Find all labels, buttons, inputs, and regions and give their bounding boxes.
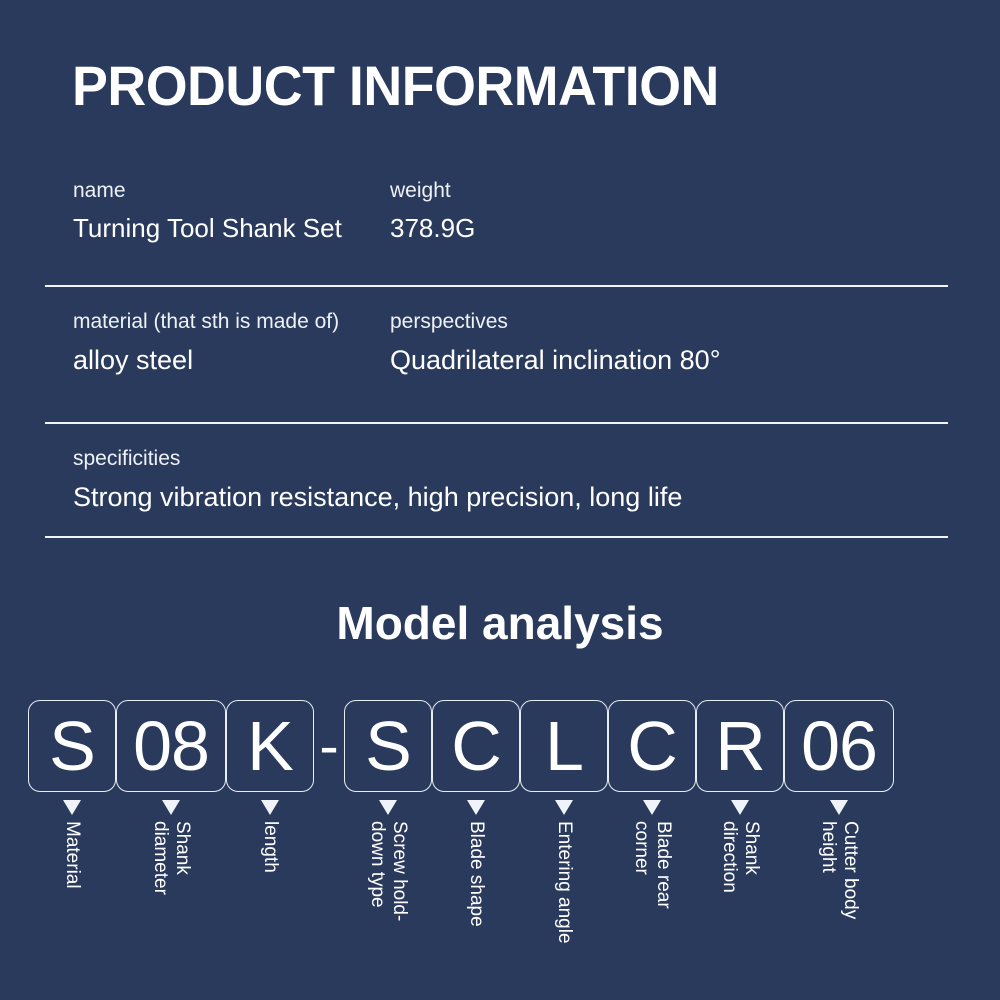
- triangle-down-icon: [555, 800, 573, 815]
- triangle-down-icon: [467, 800, 485, 815]
- triangle-down-icon: [643, 800, 661, 815]
- spec-row-specificities: specificities Strong vibration resistanc…: [45, 424, 948, 536]
- model-callout: Screw hold- down type: [344, 796, 432, 996]
- spec-table: name Turning Tool Shank Set weight 378.9…: [45, 170, 948, 538]
- spec-row-name-weight: name Turning Tool Shank Set weight 378.9…: [45, 170, 948, 285]
- model-callout-label: Blade shape: [465, 821, 487, 927]
- spec-value-name: Turning Tool Shank Set: [73, 212, 390, 246]
- triangle-down-icon: [379, 800, 397, 815]
- model-callout-label: Entering angle: [553, 821, 575, 944]
- triangle-down-icon: [63, 800, 81, 815]
- model-code-box: C: [432, 700, 520, 792]
- spec-key-name: name: [73, 178, 390, 204]
- model-code-row: S08K-SCLCR06: [28, 700, 978, 792]
- model-callout-row: MaterialShank diameterlengthScrew hold- …: [28, 796, 978, 996]
- model-code-box: R: [696, 700, 784, 792]
- model-callout-label: length: [259, 821, 281, 873]
- section-title-model-analysis: Model analysis: [0, 600, 1000, 646]
- model-code-box: L: [520, 700, 608, 792]
- model-callout: Material: [28, 796, 116, 996]
- spec-key-specificities: specificities: [73, 446, 682, 472]
- model-code-box: S: [28, 700, 116, 792]
- model-callout: Shank diameter: [116, 796, 226, 996]
- spec-value-perspectives: Quadrilateral inclination 80°: [390, 343, 910, 378]
- model-callout: Blade rear corner: [608, 796, 696, 996]
- model-code-box: S: [344, 700, 432, 792]
- spec-row-material-perspectives: material (that sth is made of) alloy ste…: [45, 287, 948, 422]
- spec-cell-name: name Turning Tool Shank Set: [45, 178, 390, 246]
- model-callout: Blade shape: [432, 796, 520, 996]
- spec-divider-3: [45, 536, 948, 538]
- model-code-box: K: [226, 700, 314, 792]
- triangle-down-icon: [731, 800, 749, 815]
- model-callout-label: Cutter body height: [817, 821, 861, 919]
- spec-cell-material: material (that sth is made of) alloy ste…: [45, 309, 390, 378]
- model-callout: length: [226, 796, 314, 996]
- spec-key-material: material (that sth is made of): [73, 309, 390, 335]
- model-callout: [314, 796, 344, 996]
- model-callout-label: Shank diameter: [149, 821, 193, 895]
- spec-value-material: alloy steel: [73, 343, 390, 378]
- spec-key-weight: weight: [390, 178, 790, 204]
- model-callout: Shank direction: [696, 796, 784, 996]
- model-code-box: 08: [116, 700, 226, 792]
- spec-cell-perspectives: perspectives Quadrilateral inclination 8…: [390, 309, 910, 378]
- triangle-down-icon: [830, 800, 848, 815]
- model-callout: Cutter body height: [784, 796, 894, 996]
- model-code-box: 06: [784, 700, 894, 792]
- model-callout-label: Blade rear corner: [630, 821, 674, 909]
- triangle-down-icon: [162, 800, 180, 815]
- spec-key-perspectives: perspectives: [390, 309, 910, 335]
- spec-value-specificities: Strong vibration resistance, high precis…: [73, 480, 682, 515]
- model-code-separator: -: [314, 700, 344, 792]
- spec-value-weight: 378.9G: [390, 212, 790, 246]
- triangle-down-icon: [261, 800, 279, 815]
- model-callout-label: Shank direction: [718, 821, 762, 893]
- model-callout-label: Screw hold- down type: [366, 821, 410, 921]
- model-analysis-diagram: S08K-SCLCR06 MaterialShank diameterlengt…: [0, 700, 1000, 1000]
- spec-cell-weight: weight 378.9G: [390, 178, 790, 246]
- page-title: PRODUCT INFORMATION: [72, 58, 719, 114]
- model-callout: Entering angle: [520, 796, 608, 996]
- spec-cell-specificities: specificities Strong vibration resistanc…: [45, 446, 682, 515]
- model-code-box: C: [608, 700, 696, 792]
- model-callout-label: Material: [61, 821, 83, 889]
